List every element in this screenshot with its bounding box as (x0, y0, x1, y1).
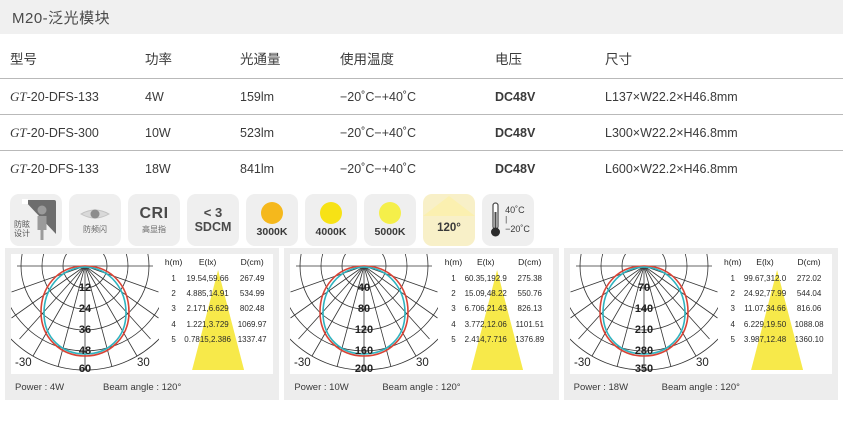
temperature-range: 40˚C | −20˚C (505, 205, 530, 235)
lux-table-18w: h(m) E(lx) D(cm) 1 99.67,312.0 272.02 2 (718, 254, 832, 374)
panel-body: 70 140 210 280 350 -30 30 (570, 254, 832, 374)
lux-e: 24.92,77.99 (744, 286, 786, 301)
lux-d: 1360.10 (786, 332, 832, 347)
lux-table-10w: h(m) E(lx) D(cm) 1 60.35,192.9 275.38 2 (438, 254, 552, 374)
lux-row: 1 99.67,312.0 272.02 (722, 271, 832, 286)
lux-h: 1 (163, 271, 184, 286)
lux-e: 1.221,3.729 (184, 317, 231, 332)
beam-angle-label: 120° (437, 222, 461, 234)
lux-e: 11.07,34.66 (744, 301, 786, 316)
lux-e: 6.706,21.43 (465, 301, 507, 316)
lux-h: 1 (722, 271, 744, 286)
lux-d: 272.02 (786, 271, 832, 286)
lux-h: 4 (442, 317, 464, 332)
temperature-divider: | (505, 216, 507, 224)
cell-temperature: −20˚C−+40˚C (340, 151, 495, 187)
cri-sublabel: 高显指 (142, 224, 166, 235)
panel-footer: Power : 4W Beam angle : 120° (11, 374, 273, 400)
illuminance-table: h(m) E(lx) D(cm) 1 19.54,59.66 267.49 2 (163, 254, 273, 347)
cell-voltage: DC48V (495, 151, 605, 187)
ring-label-5: 60 (79, 363, 91, 374)
lux-col-h: h(m) (163, 254, 184, 271)
ring-label-2: 80 (358, 303, 370, 315)
temperature-low: −20˚C (505, 224, 530, 235)
photometric-panel-18w: 70 140 210 280 350 -30 30 (564, 248, 838, 400)
lux-d: 550.76 (507, 286, 553, 301)
panel-beam-label: Beam angle : 120° (103, 382, 181, 393)
lux-d: 275.38 (507, 271, 553, 286)
sdcm-label: SDCM (195, 220, 232, 234)
lux-e: 60.35,192.9 (465, 271, 507, 286)
lux-col-d: D(cm) (231, 254, 273, 271)
lux-h: 4 (722, 317, 744, 332)
color-swatch-icon (379, 202, 401, 224)
lux-e: 2.414,7.716 (465, 332, 507, 347)
lux-h: 2 (442, 286, 464, 301)
thermometer-icon (489, 200, 502, 240)
page-title-bar: M20-泛光模块 (0, 0, 843, 34)
panel-power-label: Power : 10W (294, 382, 382, 393)
lux-e: 6.229,19.50 (744, 317, 786, 332)
ring-label-1: 12 (79, 282, 91, 294)
lux-h: 5 (442, 332, 464, 347)
polar-diagram-18w: 70 140 210 280 350 -30 30 (570, 254, 718, 374)
lux-col-d: D(cm) (786, 254, 832, 271)
cell-flux: 159lm (240, 79, 340, 115)
axis-label-right: 30 (416, 357, 429, 369)
polar-diagram-4w: 12 24 36 48 60 -30 30 (11, 254, 159, 374)
lux-e: 0.7815,2.386 (184, 332, 231, 347)
lux-header-row: h(m) E(lx) D(cm) (442, 254, 552, 271)
axis-label-right: 30 (137, 357, 150, 369)
lux-col-e: E(lx) (465, 254, 507, 271)
lux-col-d: D(cm) (507, 254, 553, 271)
ring-label-4: 280 (634, 345, 652, 357)
color-swatch-icon (320, 202, 342, 224)
column-header-voltage: 电压 (495, 40, 605, 79)
lux-h: 2 (722, 286, 744, 301)
anti-glare-label: 防眩设计 (14, 220, 30, 238)
lux-h: 5 (163, 332, 184, 347)
lux-e: 3.987,12.48 (744, 332, 786, 347)
ring-label-3: 120 (355, 324, 373, 336)
lux-h: 1 (442, 271, 464, 286)
table-row: GT-20-DFS-133 4W 159lm −20˚C−+40˚C DC48V… (0, 79, 843, 115)
eye-icon (80, 206, 110, 222)
column-header-power: 功率 (145, 40, 240, 79)
model-rest: -20-DFS-133 (27, 162, 99, 176)
lux-h: 5 (722, 332, 744, 347)
cell-model: GT-20-DFS-133 (0, 79, 145, 115)
lux-col-h: h(m) (722, 254, 744, 271)
cri-label: CRI (139, 205, 168, 222)
lux-e: 2.171,6.629 (184, 301, 231, 316)
lux-d: 1069.97 (231, 317, 273, 332)
lux-d: 1088.08 (786, 317, 832, 332)
lux-e: 99.67,312.0 (744, 271, 786, 286)
polar-chart-svg: 70 140 210 280 350 -30 30 (570, 254, 718, 374)
cell-flux: 841lm (240, 151, 340, 187)
lux-h: 3 (722, 301, 744, 316)
lux-row: 2 24.92,77.99 544.04 (722, 286, 832, 301)
lux-d: 534.99 (231, 286, 273, 301)
lux-d: 816.06 (786, 301, 832, 316)
model-rest: -20-DFS-300 (27, 126, 99, 140)
cct-label: 5000K (375, 226, 406, 238)
illuminance-table: h(m) E(lx) D(cm) 1 99.67,312.0 272.02 2 (722, 254, 832, 347)
feature-cct-5000k: 5000K (364, 194, 416, 246)
lux-d: 826.13 (507, 301, 553, 316)
lux-h: 2 (163, 286, 184, 301)
cell-temperature: −20˚C−+40˚C (340, 79, 495, 115)
lux-col-h: h(m) (442, 254, 464, 271)
lux-d: 1376.89 (507, 332, 553, 347)
lux-e: 15.09,48.22 (465, 286, 507, 301)
feature-operating-temperature: 40˚C | −20˚C (482, 194, 534, 246)
polar-chart-svg: 40 80 120 160 200 -30 30 (290, 254, 438, 374)
temperature-high: 40˚C (505, 205, 525, 216)
lux-col-e: E(lx) (744, 254, 786, 271)
cell-temperature: −20˚C−+40˚C (340, 115, 495, 151)
lux-h: 4 (163, 317, 184, 332)
lux-d: 802.48 (231, 301, 273, 316)
sdcm-value: < 3 (204, 206, 222, 220)
axis-label-left: -30 (574, 357, 591, 369)
photometric-panels: 12 24 36 48 60 -30 30 (0, 248, 843, 400)
feature-anti-flicker: 防频闪 (69, 194, 121, 246)
panel-footer: Power : 10W Beam angle : 120° (290, 374, 552, 400)
page-title: M20-泛光模块 (12, 7, 110, 28)
ring-label-5: 200 (355, 363, 373, 374)
ring-label-1: 70 (638, 282, 650, 294)
ring-label-5: 350 (634, 363, 652, 374)
lux-row: 2 4.885,14.91 534.99 (163, 286, 273, 301)
cell-power: 18W (145, 151, 240, 187)
photometric-panel-10w: 40 80 120 160 200 -30 30 (284, 248, 558, 400)
feature-cri: CRI 高显指 (128, 194, 180, 246)
lux-row: 4 3.772,12.06 1101.51 (442, 317, 552, 332)
lux-d: 544.04 (786, 286, 832, 301)
lux-row: 3 11.07,34.66 816.06 (722, 301, 832, 316)
panel-body: 12 24 36 48 60 -30 30 (11, 254, 273, 374)
beam-cone-icon (423, 196, 475, 216)
lux-row: 4 1.221,3.729 1069.97 (163, 317, 273, 332)
cct-label: 3000K (257, 226, 288, 238)
cell-size: L600×W22.2×H46.8mm (605, 151, 843, 187)
table-header-row: 型号 功率 光通量 使用温度 电压 尺寸 (0, 40, 843, 79)
lux-row: 1 19.54,59.66 267.49 (163, 271, 273, 286)
model-prefix: GT (10, 125, 27, 140)
lux-header-row: h(m) E(lx) D(cm) (722, 254, 832, 271)
feature-anti-glare: 防眩设计 (10, 194, 62, 246)
table-row: GT-20-DFS-300 10W 523lm −20˚C−+40˚C DC48… (0, 115, 843, 151)
specification-table: 型号 功率 光通量 使用温度 电压 尺寸 GT-20-DFS-133 4W 15… (0, 40, 843, 186)
ring-label-2: 24 (79, 303, 92, 315)
panel-power-label: Power : 4W (15, 382, 103, 393)
lux-e: 4.885,14.91 (184, 286, 231, 301)
ring-label-3: 36 (79, 324, 91, 336)
cell-model: GT-20-DFS-133 (0, 151, 145, 187)
lux-d: 1101.51 (507, 317, 553, 332)
panel-beam-label: Beam angle : 120° (662, 382, 740, 393)
cct-label: 4000K (316, 226, 347, 238)
model-prefix: GT (10, 161, 27, 176)
cell-voltage: DC48V (495, 115, 605, 151)
lux-row: 3 2.171,6.629 802.48 (163, 301, 273, 316)
lux-e: 3.772,12.06 (465, 317, 507, 332)
polar-chart-svg: 12 24 36 48 60 -30 30 (11, 254, 159, 374)
cell-model: GT-20-DFS-300 (0, 115, 145, 151)
lux-header-row: h(m) E(lx) D(cm) (163, 254, 273, 271)
feature-cct-4000k: 4000K (305, 194, 357, 246)
model-prefix: GT (10, 89, 27, 104)
axis-label-left: -30 (294, 357, 311, 369)
polar-diagram-10w: 40 80 120 160 200 -30 30 (290, 254, 438, 374)
column-header-flux: 光通量 (240, 40, 340, 79)
illuminance-table: h(m) E(lx) D(cm) 1 60.35,192.9 275.38 2 (442, 254, 552, 347)
axis-label-right: 30 (696, 357, 709, 369)
cell-size: L137×W22.2×H46.8mm (605, 79, 843, 115)
feature-beam-angle: 120° (423, 194, 475, 246)
column-header-size: 尺寸 (605, 40, 843, 79)
lux-table-4w: h(m) E(lx) D(cm) 1 19.54,59.66 267.49 2 (159, 254, 273, 374)
table-row: GT-20-DFS-133 18W 841lm −20˚C−+40˚C DC48… (0, 151, 843, 187)
lux-row: 2 15.09,48.22 550.76 (442, 286, 552, 301)
ring-label-1: 40 (358, 282, 370, 294)
photometric-panel-4w: 12 24 36 48 60 -30 30 (5, 248, 279, 400)
ring-label-2: 140 (634, 303, 652, 315)
ring-label-4: 160 (355, 345, 373, 357)
lux-row: 1 60.35,192.9 275.38 (442, 271, 552, 286)
lux-row: 5 2.414,7.716 1376.89 (442, 332, 552, 347)
lux-h: 3 (163, 301, 184, 316)
lux-row: 3 6.706,21.43 826.13 (442, 301, 552, 316)
ring-label-3: 210 (634, 324, 652, 336)
lux-d: 1337.47 (231, 332, 273, 347)
panel-footer: Power : 18W Beam angle : 120° (570, 374, 832, 400)
lux-row: 4 6.229,19.50 1088.08 (722, 317, 832, 332)
lux-row: 5 3.987,12.48 1360.10 (722, 332, 832, 347)
ring-label-4: 48 (79, 345, 91, 357)
feature-badge-row: 防眩设计 防频闪 CRI 高显指 < 3 SDCM 3000K 4000K 50… (0, 186, 843, 248)
lux-e: 19.54,59.66 (184, 271, 231, 286)
cell-voltage: DC48V (495, 79, 605, 115)
cell-size: L300×W22.2×H46.8mm (605, 115, 843, 151)
feature-sdcm: < 3 SDCM (187, 194, 239, 246)
cell-flux: 523lm (240, 115, 340, 151)
cell-power: 10W (145, 115, 240, 151)
lux-h: 3 (442, 301, 464, 316)
axis-label-left: -30 (15, 357, 32, 369)
anti-flicker-label: 防频闪 (83, 224, 107, 235)
column-header-model: 型号 (0, 40, 145, 79)
model-rest: -20-DFS-133 (27, 90, 99, 104)
panel-beam-label: Beam angle : 120° (382, 382, 460, 393)
lux-row: 5 0.7815,2.386 1337.47 (163, 332, 273, 347)
lux-col-e: E(lx) (184, 254, 231, 271)
cell-power: 4W (145, 79, 240, 115)
color-swatch-icon (261, 202, 283, 224)
feature-cct-3000k: 3000K (246, 194, 298, 246)
panel-body: 40 80 120 160 200 -30 30 (290, 254, 552, 374)
column-header-temperature: 使用温度 (340, 40, 495, 79)
lux-d: 267.49 (231, 271, 273, 286)
panel-power-label: Power : 18W (574, 382, 662, 393)
